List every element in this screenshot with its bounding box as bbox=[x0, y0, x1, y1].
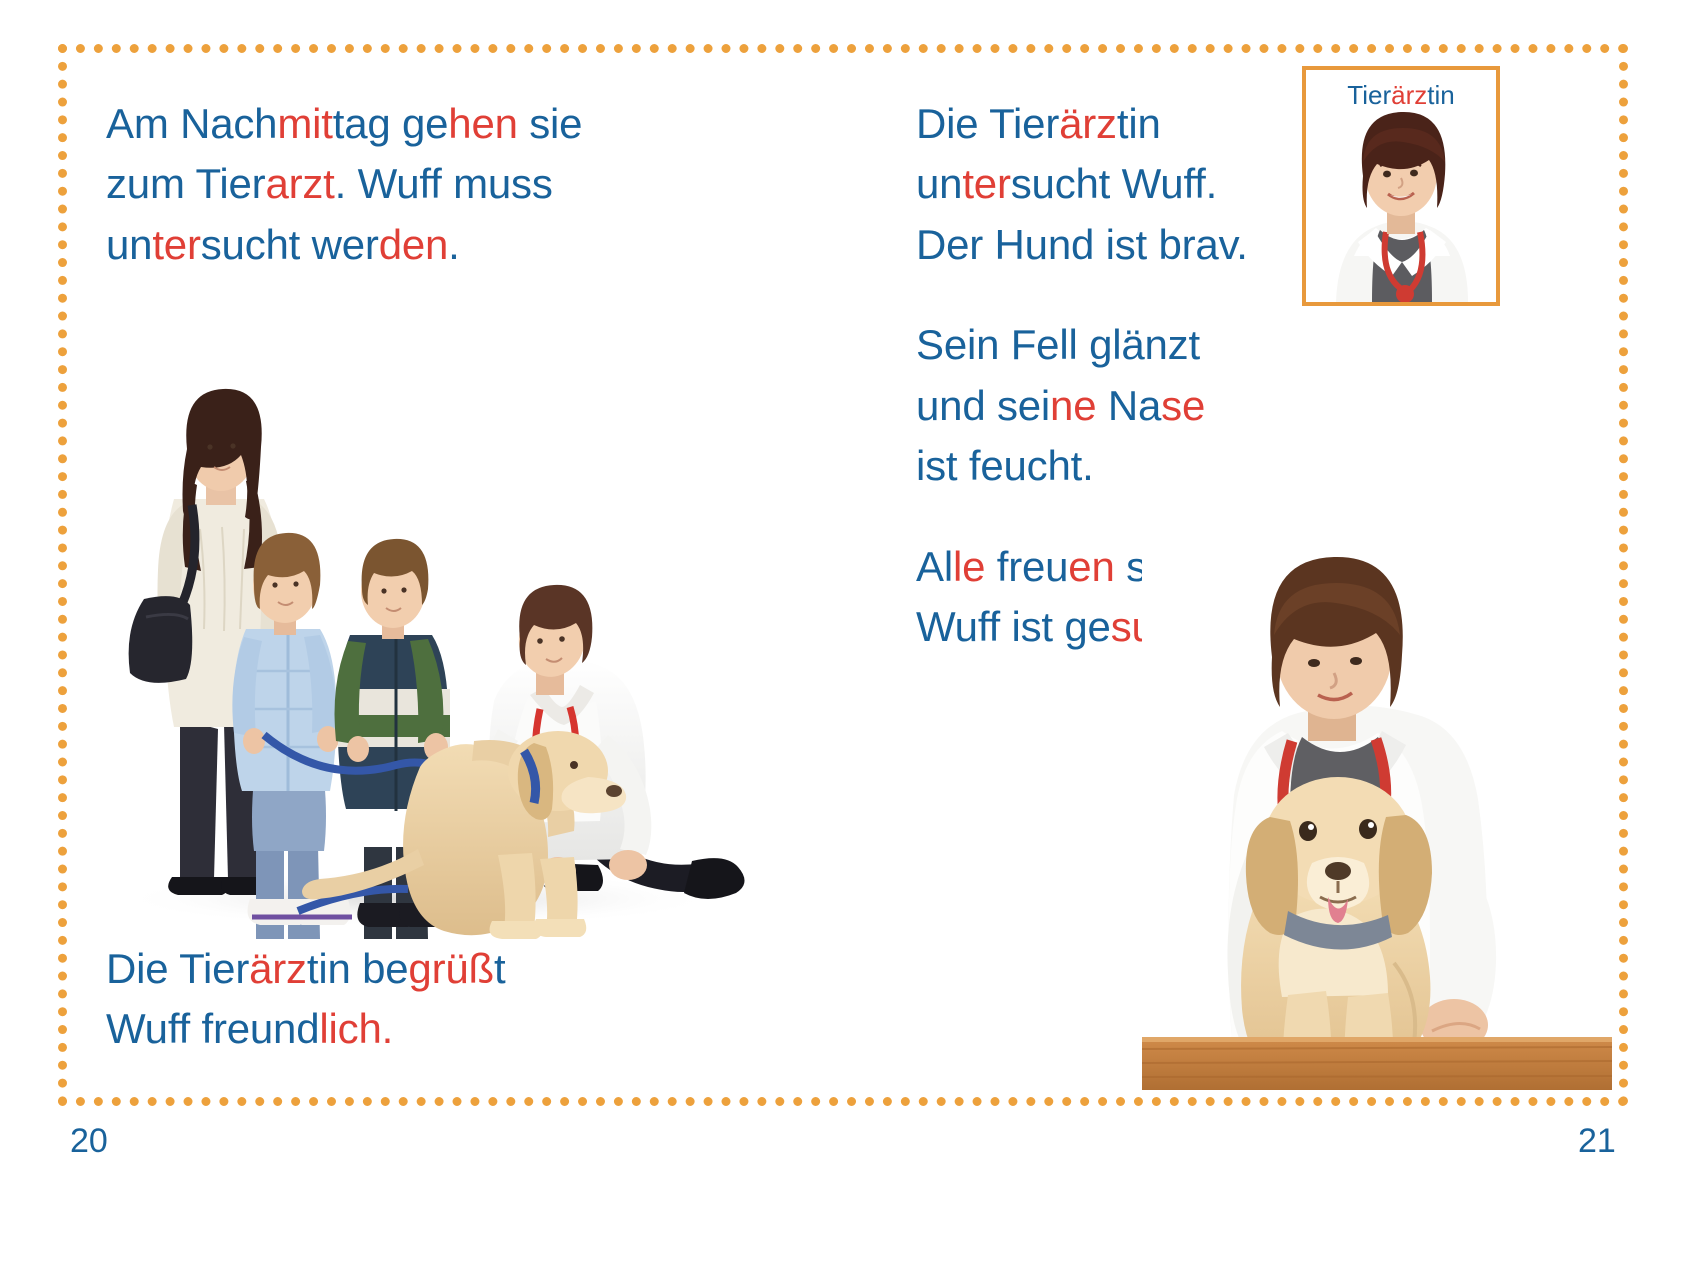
page-number-left: 20 bbox=[70, 1122, 108, 1161]
vet-portrait-card: Tierärztin bbox=[1302, 66, 1500, 306]
family-vet-dog-illustration bbox=[88, 299, 808, 939]
text-segment: Am Nach bbox=[106, 100, 277, 147]
text-segment: Na bbox=[1096, 382, 1161, 429]
photo-family-with-vet-and-dog bbox=[88, 299, 808, 939]
text-segment: und sei bbox=[916, 382, 1050, 429]
text-segment: en bbox=[1068, 543, 1114, 590]
text-segment: . Wuff muss bbox=[335, 160, 553, 207]
left-caption-paragraph: Die Tierärztin begrüßtWuff freundlich. bbox=[106, 939, 726, 1060]
text-segment: Wuff ist ge bbox=[916, 603, 1111, 650]
text-segment: se bbox=[1161, 382, 1205, 429]
text-segment: Al bbox=[916, 543, 953, 590]
vet-puppy-illustration bbox=[1142, 545, 1612, 1090]
vet-card-label: Tierärztin bbox=[1306, 82, 1496, 108]
text-segment: Die Tier bbox=[916, 100, 1059, 147]
left-page: Am Nachmittag gehen siezum Tierarzt. Wuf… bbox=[58, 44, 843, 1106]
right-paragraph-1: Die Tierärztinuntersucht Wuff.Der Hund i… bbox=[916, 94, 1336, 275]
text-segment: tin bbox=[1117, 100, 1161, 147]
text-segment: t bbox=[494, 945, 505, 992]
text-segment: sucht Wuff. bbox=[1011, 160, 1217, 207]
text-segment: Der Hund ist brav. bbox=[916, 221, 1248, 268]
page-number-right: 21 bbox=[1578, 1122, 1616, 1161]
text-segment: tin be bbox=[307, 945, 409, 992]
text-segment: un bbox=[106, 221, 152, 268]
photo-vet-examining-puppy bbox=[1142, 545, 1612, 1090]
text-segment: ist feucht. bbox=[916, 442, 1094, 489]
text-segment: grüß bbox=[408, 945, 494, 992]
text-segment: un bbox=[916, 160, 962, 207]
text-segment: ne bbox=[1050, 382, 1096, 429]
text-segment: den bbox=[379, 221, 448, 268]
text-segment: mit bbox=[277, 100, 332, 147]
text-segment: ter bbox=[152, 221, 200, 268]
text-segment: tin bbox=[1427, 80, 1454, 110]
text-segment: ärz bbox=[1059, 100, 1117, 147]
text-segment: sie bbox=[518, 100, 583, 147]
text-segment: lich. bbox=[319, 1005, 393, 1052]
text-segment: Tier bbox=[1347, 80, 1391, 110]
right-paragraph-2: Sein Fell glänztund seine Naseist feucht… bbox=[916, 315, 1336, 496]
text-segment: Wuff freund bbox=[106, 1005, 319, 1052]
text-segment: . bbox=[448, 221, 459, 268]
text-segment: ter bbox=[962, 160, 1010, 207]
text-segment: Sein Fell glänzt bbox=[916, 321, 1200, 368]
text-segment: tag ge bbox=[333, 100, 449, 147]
text-segment: zum Tier bbox=[106, 160, 265, 207]
text-segment: hen bbox=[448, 100, 517, 147]
left-top-paragraph: Am Nachmittag gehen siezum Tierarzt. Wuf… bbox=[106, 94, 716, 275]
text-segment: ärz bbox=[1391, 80, 1427, 110]
text-segment: sucht wer bbox=[201, 221, 379, 268]
text-segment: arzt bbox=[265, 160, 334, 207]
text-segment: le bbox=[953, 543, 985, 590]
text-segment: freu bbox=[985, 543, 1068, 590]
text-segment: ärz bbox=[249, 945, 307, 992]
text-segment: Die Tier bbox=[106, 945, 249, 992]
